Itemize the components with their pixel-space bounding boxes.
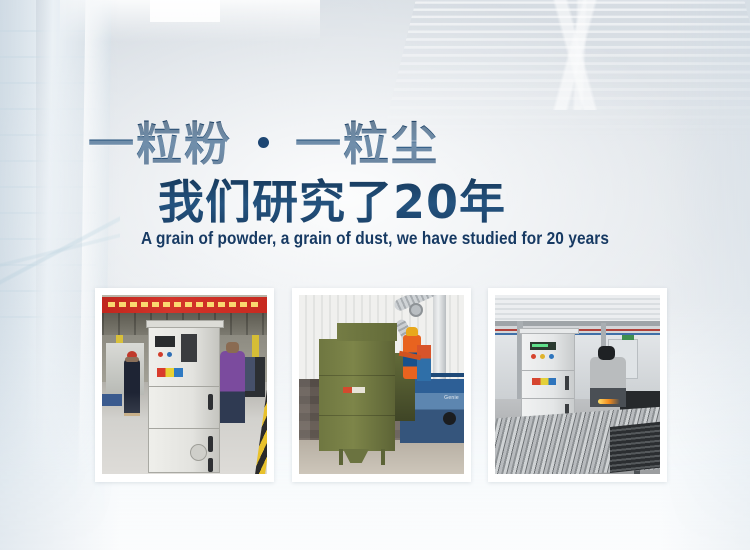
company-slogan-banner: 一粒粉一粒尘 我们研究了20年 A grain of powder, a gra… [0, 0, 750, 550]
photo-1-worker-right [220, 351, 245, 423]
photo-2-lift-brand: Genie [444, 395, 459, 401]
background-top-beam [60, 0, 320, 42]
photo-1-worker-left [124, 359, 140, 413]
headline-separator-dot [258, 137, 269, 148]
background-top-block [150, 0, 220, 22]
photo-2-dust-collector [319, 339, 395, 451]
background-ceiling-rays [430, 0, 730, 110]
headline-line-1-part-1: 一粒粉 [88, 117, 232, 171]
gallery-photo-1[interactable] [95, 288, 274, 482]
gallery-photo-3[interactable] [488, 288, 667, 482]
photo-1-red-banner [102, 297, 267, 313]
gallery-photo-2[interactable]: Genie [292, 288, 471, 482]
photo-gallery: Genie [0, 288, 750, 484]
photo-1-image [102, 295, 267, 474]
photo-1-dust-collector [148, 323, 220, 473]
photo-2-image: Genie [299, 295, 464, 474]
headline-line-1-part-2: 一粒尘 [295, 117, 439, 171]
headline-line-2: 我们研究了20年 [158, 166, 506, 232]
background-shelf-rack [0, 30, 96, 330]
headline-line-1: 一粒粉一粒尘 [88, 108, 439, 174]
headline-subtitle-english: A grain of powder, a grain of dust, we h… [45, 228, 705, 249]
photo-3-image [495, 295, 660, 474]
